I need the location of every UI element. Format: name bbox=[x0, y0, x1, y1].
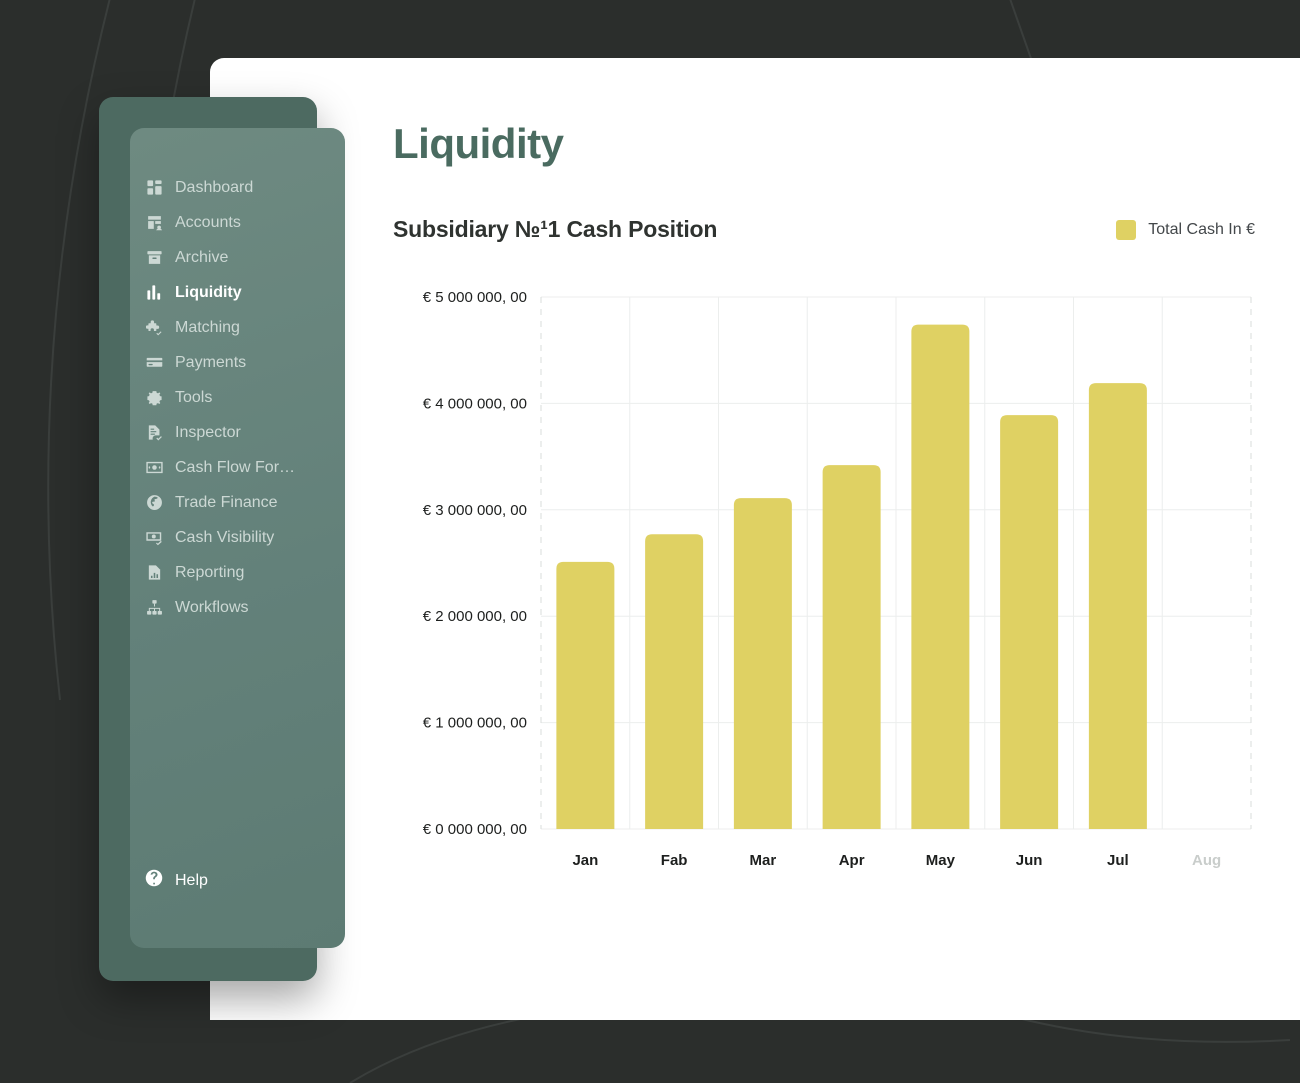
sidebar-item-matching[interactable]: Matching bbox=[130, 310, 345, 345]
gear-icon bbox=[145, 389, 163, 407]
sidebar-item-accounts[interactable]: Accounts bbox=[130, 205, 345, 240]
legend-swatch-total-cash-in bbox=[1116, 220, 1136, 240]
report-document-icon bbox=[145, 564, 163, 582]
bar-chart-icon bbox=[145, 284, 163, 302]
chart-header: Subsidiary №¹1 Cash Position Total Cash … bbox=[393, 216, 1255, 243]
bar-mar[interactable] bbox=[734, 498, 792, 829]
sidebar-item-dashboard[interactable]: Dashboard bbox=[130, 170, 345, 205]
sidebar-item-cash-flow-forecast[interactable]: Cash Flow For… bbox=[130, 450, 345, 485]
chart-title: Subsidiary №¹1 Cash Position bbox=[393, 216, 717, 243]
archive-box-icon bbox=[145, 249, 163, 267]
banknote-icon bbox=[145, 459, 163, 477]
x-axis-tick-label: Jun bbox=[1016, 852, 1043, 869]
sidebar-item-label: Reporting bbox=[175, 564, 244, 582]
content-area: Liquidity Subsidiary №¹1 Cash Position T… bbox=[393, 58, 1273, 891]
sidebar-item-tools[interactable]: Tools bbox=[130, 380, 345, 415]
sidebar-item-label: Accounts bbox=[175, 214, 241, 232]
sidebar-item-label: Matching bbox=[175, 319, 240, 337]
sidebar-nav-list: Dashboard Accounts Archive Liquidity Mat bbox=[130, 170, 345, 625]
bar-jan[interactable] bbox=[556, 562, 614, 829]
sidebar-item-label: Cash Visibility bbox=[175, 529, 274, 547]
question-circle-icon bbox=[145, 869, 163, 892]
sidebar-item-label: Help bbox=[175, 872, 208, 890]
y-axis-tick-label: € 4 000 000, 00 bbox=[423, 395, 527, 412]
x-axis-tick-label: Mar bbox=[750, 852, 777, 869]
y-axis-tick-label: € 1 000 000, 00 bbox=[423, 715, 527, 732]
x-axis-tick-label: Aug bbox=[1192, 852, 1221, 869]
globe-icon bbox=[145, 494, 163, 512]
sidebar-item-label: Tools bbox=[175, 389, 212, 407]
page-title: Liquidity bbox=[393, 120, 1273, 168]
sidebar-spacer bbox=[130, 625, 345, 863]
puzzle-check-icon bbox=[145, 319, 163, 337]
sidebar-item-help[interactable]: Help bbox=[130, 863, 345, 898]
x-axis-tick-label: May bbox=[926, 852, 956, 869]
workflow-hierarchy-icon bbox=[145, 599, 163, 617]
sidebar-item-label: Archive bbox=[175, 249, 228, 267]
credit-card-icon bbox=[145, 354, 163, 372]
sidebar-item-label: Payments bbox=[175, 354, 246, 372]
bar-chart: € 0 000 000, 00€ 1 000 000, 00€ 2 000 00… bbox=[393, 281, 1273, 891]
banknote-check-icon bbox=[145, 529, 163, 547]
y-axis-tick-label: € 0 000 000, 00 bbox=[423, 821, 527, 838]
bar-jul[interactable] bbox=[1089, 383, 1147, 829]
y-axis-tick-label: € 2 000 000, 00 bbox=[423, 608, 527, 625]
sidebar-item-cash-visibility[interactable]: Cash Visibility bbox=[130, 520, 345, 555]
sidebar-item-label: Cash Flow For… bbox=[175, 459, 295, 477]
sidebar-item-label: Inspector bbox=[175, 424, 241, 442]
bar-may[interactable] bbox=[911, 325, 969, 829]
sidebar-item-payments[interactable]: Payments bbox=[130, 345, 345, 380]
sidebar-item-label: Dashboard bbox=[175, 179, 253, 197]
sidebar: Dashboard Accounts Archive Liquidity Mat bbox=[130, 128, 345, 948]
sidebar-item-trade-finance[interactable]: Trade Finance bbox=[130, 485, 345, 520]
x-axis-tick-label: Jan bbox=[572, 852, 598, 869]
legend-label-total-cash-in: Total Cash In € bbox=[1148, 221, 1255, 239]
bar-fab[interactable] bbox=[645, 534, 703, 829]
bar-apr[interactable] bbox=[823, 465, 881, 829]
sidebar-item-label: Liquidity bbox=[175, 284, 242, 302]
y-axis-tick-label: € 5 000 000, 00 bbox=[423, 289, 527, 306]
dashboard-grid-icon bbox=[145, 179, 163, 197]
sidebar-item-inspector[interactable]: Inspector bbox=[130, 415, 345, 450]
x-axis-tick-label: Fab bbox=[661, 852, 688, 869]
x-axis-tick-label: Jul bbox=[1107, 852, 1129, 869]
sidebar-item-reporting[interactable]: Reporting bbox=[130, 555, 345, 590]
sidebar-item-archive[interactable]: Archive bbox=[130, 240, 345, 275]
chart-legend: Total Cash In € bbox=[1116, 220, 1255, 240]
sidebar-item-label: Trade Finance bbox=[175, 494, 278, 512]
accounts-table-icon bbox=[145, 214, 163, 232]
bar-jun[interactable] bbox=[1000, 415, 1058, 829]
document-check-icon bbox=[145, 424, 163, 442]
y-axis-tick-label: € 3 000 000, 00 bbox=[423, 502, 527, 519]
sidebar-item-liquidity[interactable]: Liquidity bbox=[130, 275, 345, 310]
x-axis-tick-label: Apr bbox=[839, 852, 865, 869]
sidebar-item-label: Workflows bbox=[175, 599, 249, 617]
sidebar-item-workflows[interactable]: Workflows bbox=[130, 590, 345, 625]
